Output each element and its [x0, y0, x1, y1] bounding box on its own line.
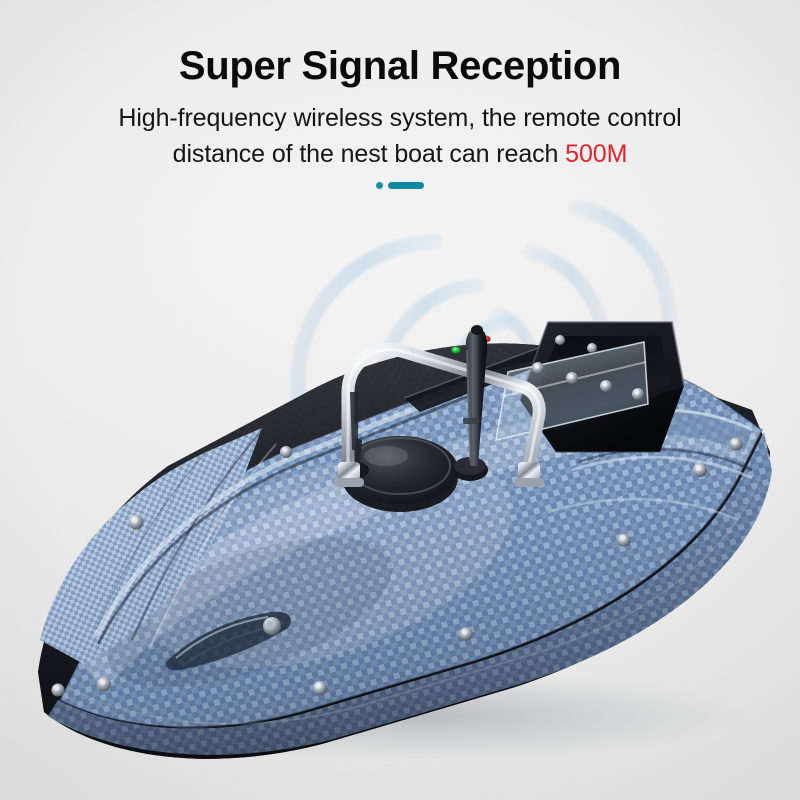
- page-title: Super Signal Reception: [0, 0, 800, 88]
- hopper-bolt: [532, 362, 544, 374]
- hull-bolt: [460, 628, 473, 641]
- hull-bolt: [97, 677, 111, 691]
- hopper-bolt: [566, 372, 578, 384]
- hull-bolt: [129, 515, 144, 530]
- product-feature-poster: Super Signal Reception High-frequency wi…: [0, 0, 800, 800]
- hull-bolt: [730, 438, 743, 451]
- hull-bolt: [280, 446, 292, 458]
- divider-bar: [388, 182, 424, 189]
- subtitle-line-2-prefix: distance of the nest boat can reach: [173, 140, 566, 168]
- hopper-bolt: [632, 388, 644, 400]
- hull-bolt: [52, 684, 65, 697]
- hull-bolt: [693, 463, 707, 477]
- poster-subtitle: High-frequency wireless system, the remo…: [0, 88, 800, 172]
- subtitle-line-1: High-frequency wireless system, the remo…: [118, 104, 681, 132]
- hull-bolt: [618, 534, 631, 547]
- subtitle-accent-distance: 500M: [565, 140, 627, 168]
- divider-dot: [376, 182, 383, 189]
- teal-dot-bar-divider: [0, 172, 800, 189]
- handle-mount-left: [334, 462, 364, 487]
- hull-bolt: [313, 681, 327, 695]
- hopper-bolt: [555, 335, 565, 345]
- handle-mount-right: [514, 462, 544, 487]
- poster-header: Super Signal Reception High-frequency wi…: [0, 0, 800, 189]
- hopper-bolt: [587, 343, 597, 353]
- hopper-bolt: [600, 380, 612, 392]
- led-green-1: [451, 347, 460, 354]
